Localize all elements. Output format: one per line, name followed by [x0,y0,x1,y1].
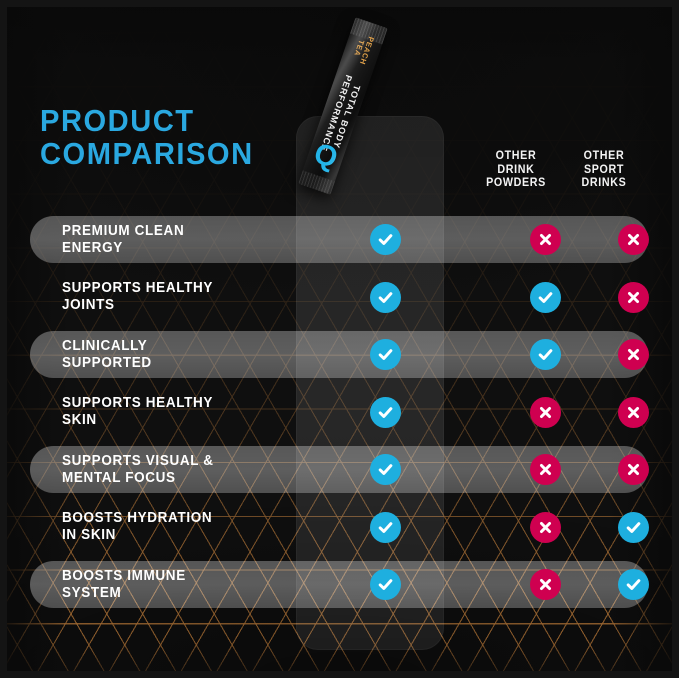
row-label: SUPPORTS HEALTHY JOINTS [62,280,322,314]
page-title: PRODUCT COMPARISON [40,104,254,170]
row-label: SUPPORTS HEALTHY SKIN [62,395,322,429]
cross-icon [618,397,649,428]
table-row: BOOSTS HYDRATION IN SKIN [30,504,648,551]
cross-icon [530,512,561,543]
check-icon [370,454,401,485]
cross-icon [618,454,649,485]
cross-icon [530,224,561,255]
check-icon [370,569,401,600]
column-header-other-drink-powders: OTHER DRINK POWDERS [466,150,566,191]
table-row: CLINICALLY SUPPORTED [30,331,648,378]
row-label: CLINICALLY SUPPORTED [62,338,322,372]
row-label: BOOSTS HYDRATION IN SKIN [62,510,322,544]
row-label: SUPPORTS VISUAL & MENTAL FOCUS [62,453,322,487]
cross-icon [618,224,649,255]
check-icon [370,512,401,543]
table-row: SUPPORTS HEALTHY SKIN [30,389,648,436]
check-icon [370,339,401,370]
check-icon [530,339,561,370]
product-comparison-graphic: PRODUCT COMPARISON PEACH TEA TOTAL BODY … [0,0,679,678]
table-row: SUPPORTS HEALTHY JOINTS [30,274,648,321]
row-label: PREMIUM CLEAN ENERGY [62,223,322,257]
check-icon [370,282,401,313]
cross-icon [530,454,561,485]
cross-icon [530,397,561,428]
check-icon [530,282,561,313]
check-icon [618,569,649,600]
row-label: BOOSTS IMMUNE SYSTEM [62,568,322,602]
cross-icon [530,569,561,600]
table-row: PREMIUM CLEAN ENERGY [30,216,648,263]
table-row: BOOSTS IMMUNE SYSTEM [30,561,648,608]
table-row: SUPPORTS VISUAL & MENTAL FOCUS [30,446,648,493]
check-icon [370,397,401,428]
cross-icon [618,282,649,313]
column-header-other-sport-drinks: OTHER SPORT DRINKS [554,150,654,191]
cross-icon [618,339,649,370]
check-icon [618,512,649,543]
check-icon [370,224,401,255]
